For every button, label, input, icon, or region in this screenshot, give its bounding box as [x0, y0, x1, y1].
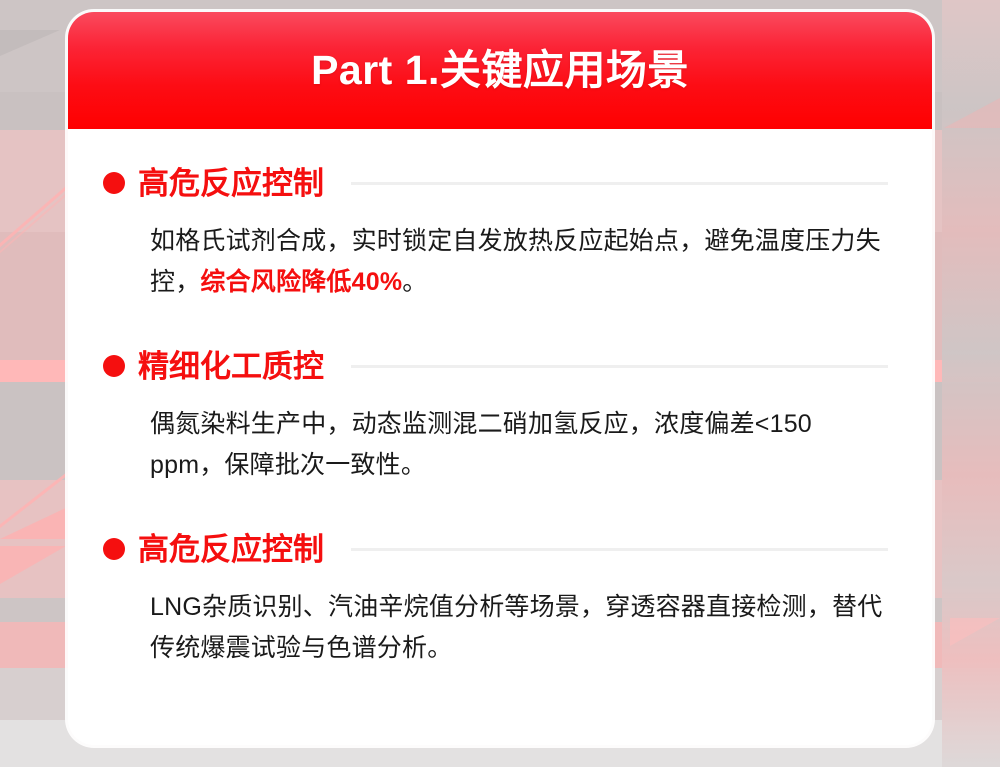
bullet-dot-icon [103, 355, 125, 377]
section-body: 偶氮染料生产中，动态监测混二硝加氢反应，浓度偏差<150 ppm，保障批次一致性… [150, 404, 892, 485]
spacer [103, 308, 892, 342]
section-title: 精细化工质控 [138, 351, 324, 382]
section-banner: Part 1.关键应用场景 [68, 12, 932, 129]
bg-triangle [0, 505, 72, 539]
section-divider [351, 365, 888, 368]
bg-triangle [0, 30, 60, 56]
section-body-text: 偶氮染料生产中，动态监测混二硝加氢反应，浓度偏差<150 ppm，保障批次一致性… [150, 410, 812, 479]
section-body-text: LNG杂质识别、汽油辛烷值分析等场景，穿透容器直接检测，替代传统爆震试验与色谱分… [150, 593, 882, 662]
section-header: 高危反应控制 [103, 159, 892, 207]
spacer [103, 491, 892, 525]
section-item: 高危反应控制 LNG杂质识别、汽油辛烷值分析等场景，穿透容器直接检测，替代传统爆… [103, 525, 892, 668]
section-body: 如格氏试剂合成，实时锁定自发放热反应起始点，避免温度压力失控，综合风险降低40%… [150, 221, 892, 302]
section-title: 高危反应控制 [138, 534, 324, 565]
section-item: 精细化工质控 偶氮染料生产中，动态监测混二硝加氢反应，浓度偏差<150 ppm，… [103, 342, 892, 485]
bg-triangle [0, 546, 66, 584]
section-body-highlight: 综合风险降低40% [200, 268, 402, 296]
sections-list: 高危反应控制 如格氏试剂合成，实时锁定自发放热反应起始点，避免温度压力失控，综合… [68, 129, 932, 674]
bg-triangle [944, 98, 1000, 128]
section-body-suffix: 。 [402, 268, 427, 296]
section-title: 高危反应控制 [138, 168, 324, 199]
section-body: LNG杂质识别、汽油辛烷值分析等场景，穿透容器直接检测，替代传统爆震试验与色谱分… [150, 587, 892, 668]
bullet-dot-icon [103, 172, 125, 194]
section-divider [351, 182, 888, 185]
section-header: 高危反应控制 [103, 525, 892, 573]
section-divider [351, 548, 888, 551]
bullet-dot-icon [103, 538, 125, 560]
page-title: Part 1.关键应用场景 [311, 50, 689, 91]
section-header: 精细化工质控 [103, 342, 892, 390]
content-card: Part 1.关键应用场景 高危反应控制 如格氏试剂合成，实时锁定自发放热反应起… [68, 12, 932, 745]
bg-triangle [950, 618, 1000, 646]
section-item: 高危反应控制 如格氏试剂合成，实时锁定自发放热反应起始点，避免温度压力失控，综合… [103, 159, 892, 302]
